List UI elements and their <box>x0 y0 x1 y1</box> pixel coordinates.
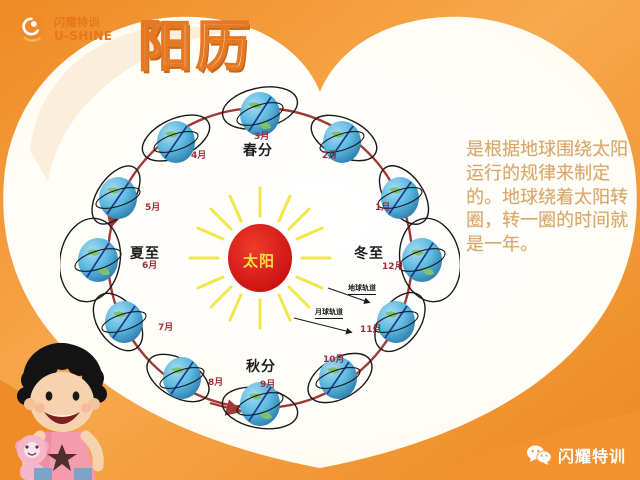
earth-month-3 <box>219 81 302 136</box>
earth-orbit-label: 地球轨道 <box>348 283 376 295</box>
month-label-10: 10月 <box>323 352 345 365</box>
moon-orbit-leader-line <box>294 318 350 332</box>
month-label-2: 2月 <box>322 148 337 161</box>
wechat-icon <box>526 444 552 466</box>
u-shine-swirl-icon <box>16 12 50 46</box>
cartoon-boy-illustration <box>4 340 124 480</box>
eye-left <box>46 391 53 400</box>
wechat-account-banner[interactable]: 闪耀特训 <box>416 430 640 480</box>
month-label-7: 7月 <box>158 320 173 333</box>
month-label-8: 8月 <box>208 375 223 388</box>
earth-month-1 <box>370 157 439 233</box>
month-label-4: 4月 <box>191 148 206 161</box>
month-label-1: 1月 <box>375 200 390 213</box>
eye-right <box>73 391 80 400</box>
season-label-winter: 冬至 <box>354 243 384 263</box>
moon-orbit-label: 月球轨道 <box>315 307 343 319</box>
logo-cn-name: 闪耀特训 <box>54 17 112 28</box>
month-label-6: 6月 <box>142 258 157 271</box>
month-label-9: 9月 <box>260 377 275 390</box>
earth-month-5 <box>82 158 149 233</box>
sun-label: 太阳 <box>243 250 275 271</box>
month-label-3: 3月 <box>254 129 269 142</box>
logo-en-name: U-SHINE <box>54 30 112 42</box>
brand-logo[interactable]: 闪耀特训 U-SHINE <box>16 12 112 46</box>
month-label-12: 12月 <box>382 259 404 272</box>
slide-canvas: 闪耀特训 U-SHINE 阳历 是根据地球围绕太阳运行的规律来制定的。地球绕着太… <box>0 0 640 480</box>
season-label-spring: 春分 <box>243 140 273 160</box>
wechat-account-name: 闪耀特训 <box>558 443 626 467</box>
earth-month-2 <box>304 106 384 170</box>
description-text: 是根据地球围绕太阳运行的规律来制定的。地球绕着太阳转圈，转一圈的时间就是一年。 <box>466 138 632 257</box>
page-title: 阳历 <box>138 2 254 81</box>
season-label-autumn: 秋分 <box>246 356 276 376</box>
month-label-5: 5月 <box>145 200 160 213</box>
month-label-11: 11月 <box>360 322 382 335</box>
earth-month-8 <box>139 345 217 412</box>
earth-month-6 <box>60 213 127 306</box>
